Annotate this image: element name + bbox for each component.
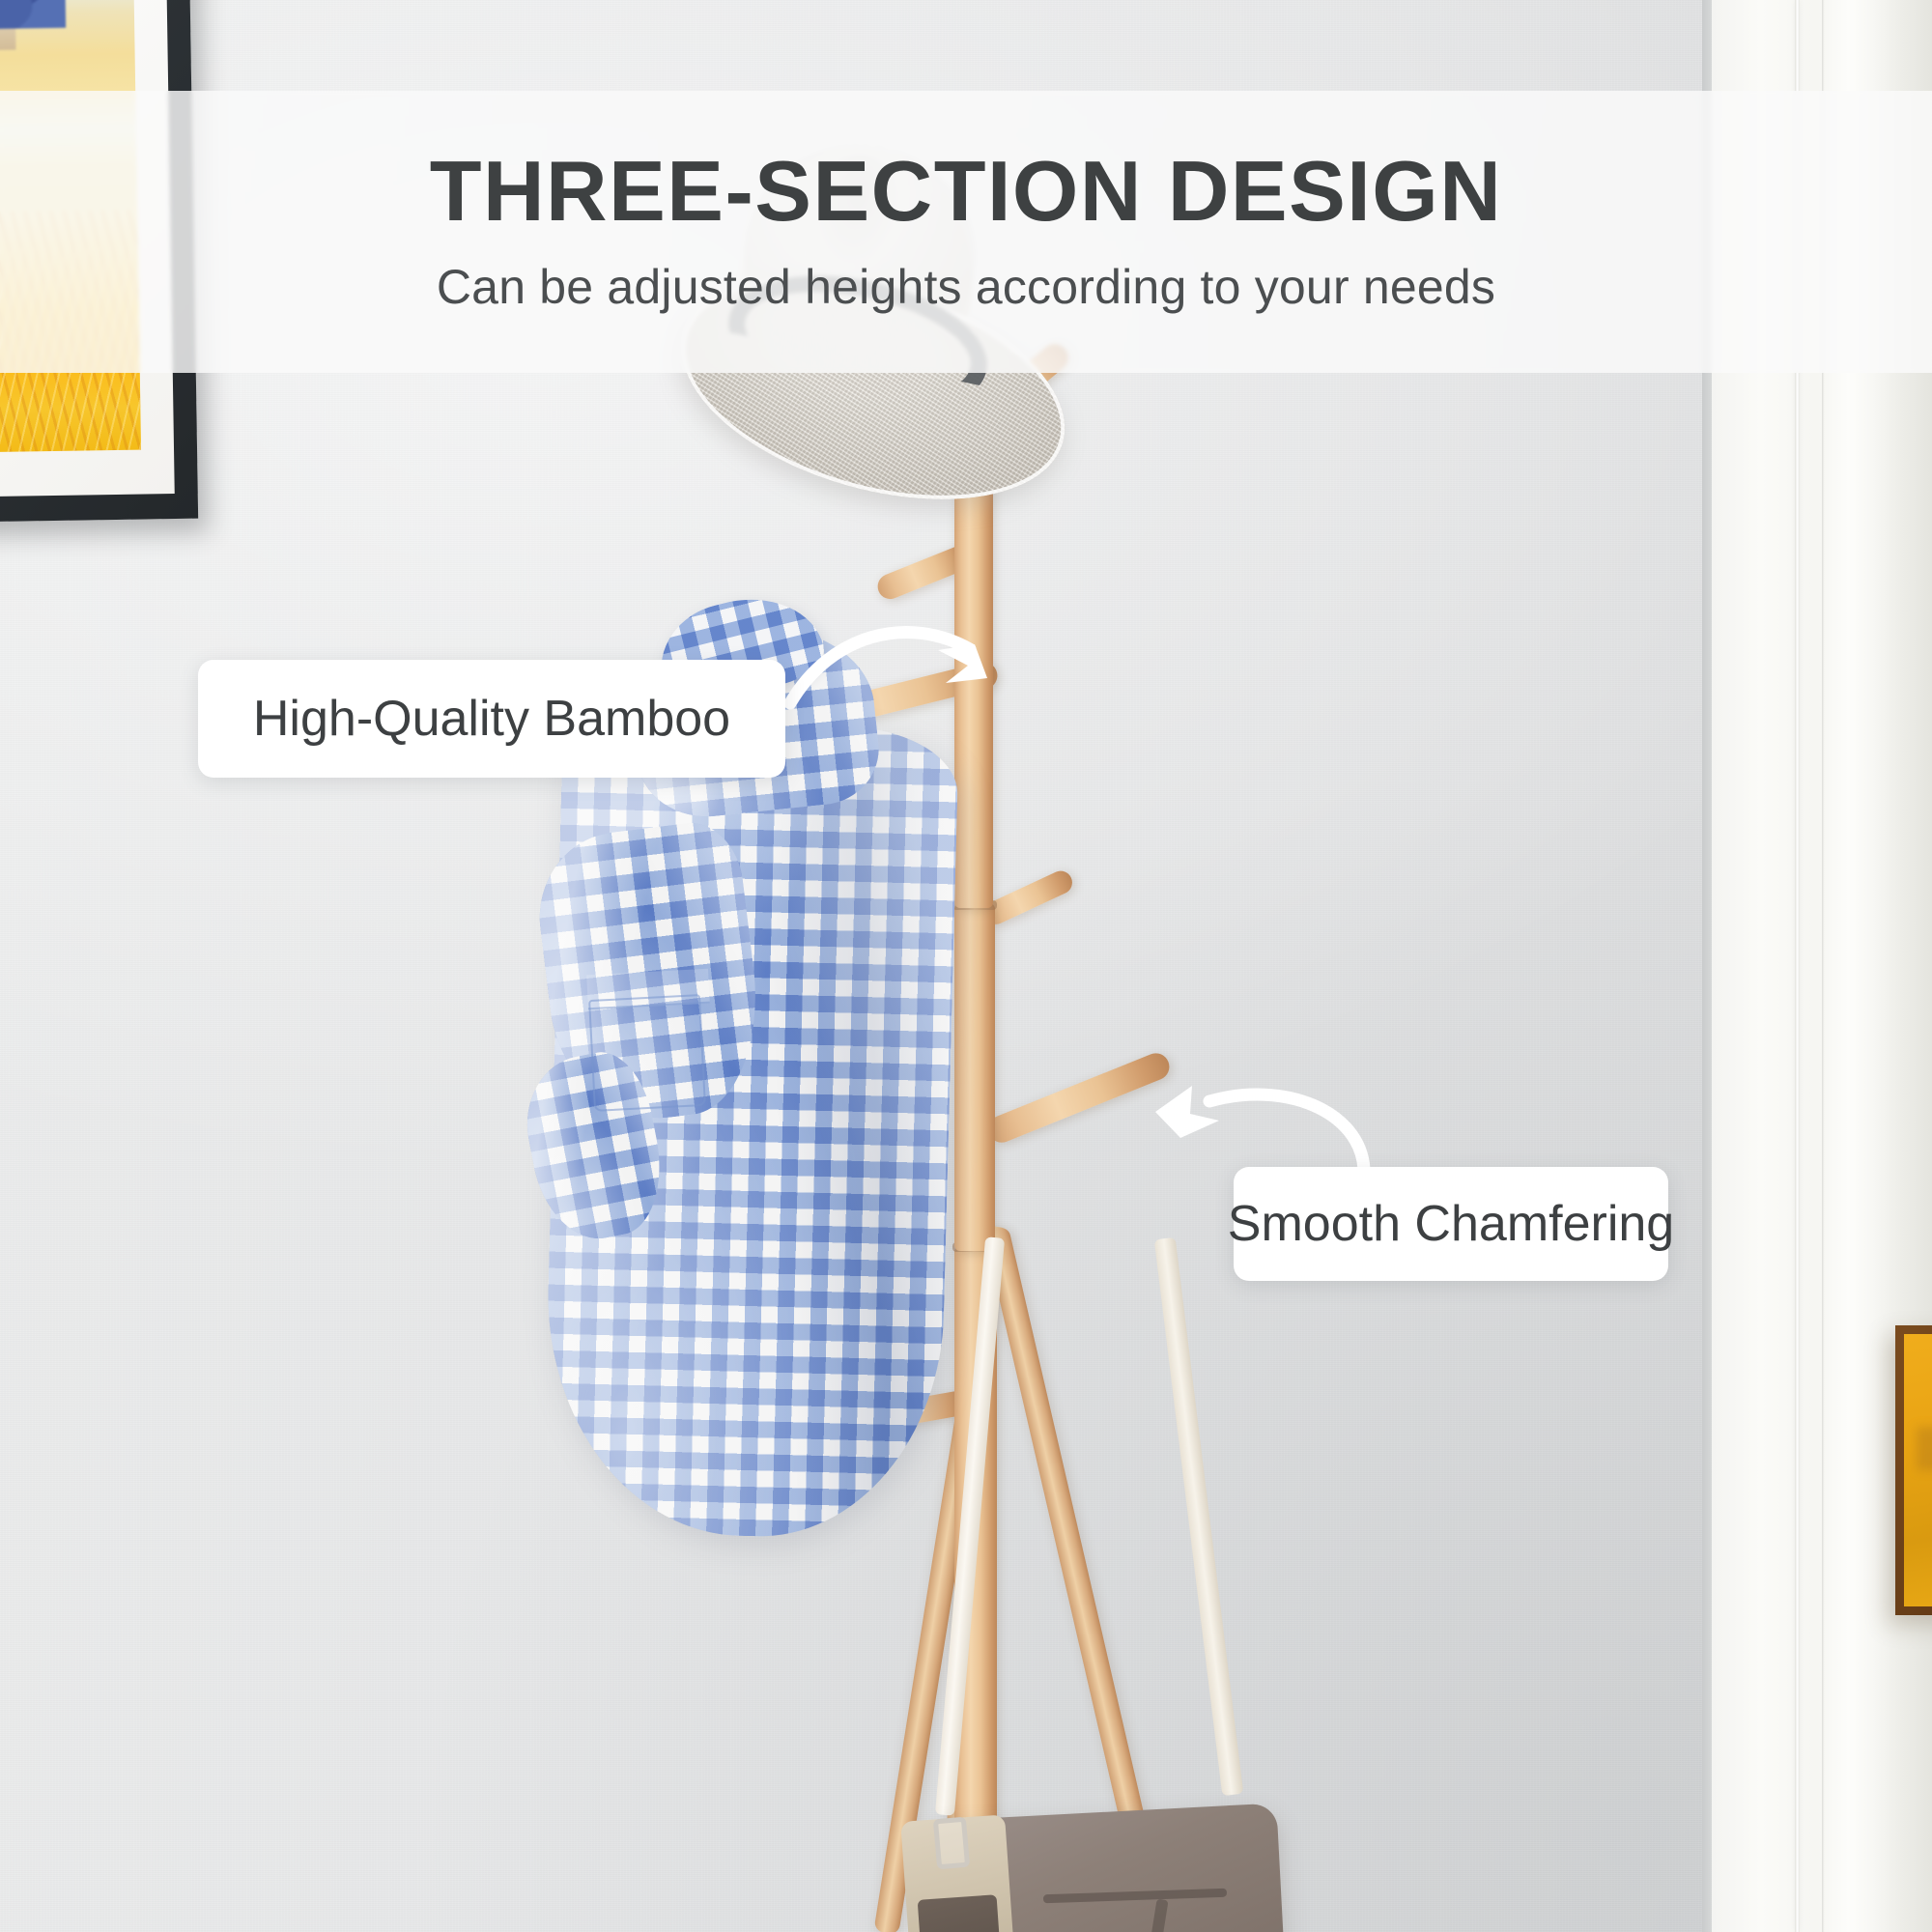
header-banner: THREE-SECTION DESIGN Can be adjusted hei…: [0, 91, 1932, 373]
messenger-bag: [898, 1777, 1304, 1932]
callout-smooth-chamfering: Smooth Chamfering: [1234, 1167, 1668, 1281]
bag-side-pocket: [918, 1894, 1002, 1932]
product-feature-scene: THREE-SECTION DESIGN Can be adjusted hei…: [0, 0, 1932, 1932]
callout-high-quality-bamboo: High-Quality Bamboo: [198, 660, 785, 778]
banner-subtitle: Can be adjusted heights according to you…: [437, 259, 1495, 315]
bag-buckle: [933, 1817, 970, 1870]
banner-title: THREE-SECTION DESIGN: [430, 149, 1503, 234]
shirt-pocket: [588, 994, 706, 1112]
rack-hook-lower-right: [984, 1049, 1174, 1147]
